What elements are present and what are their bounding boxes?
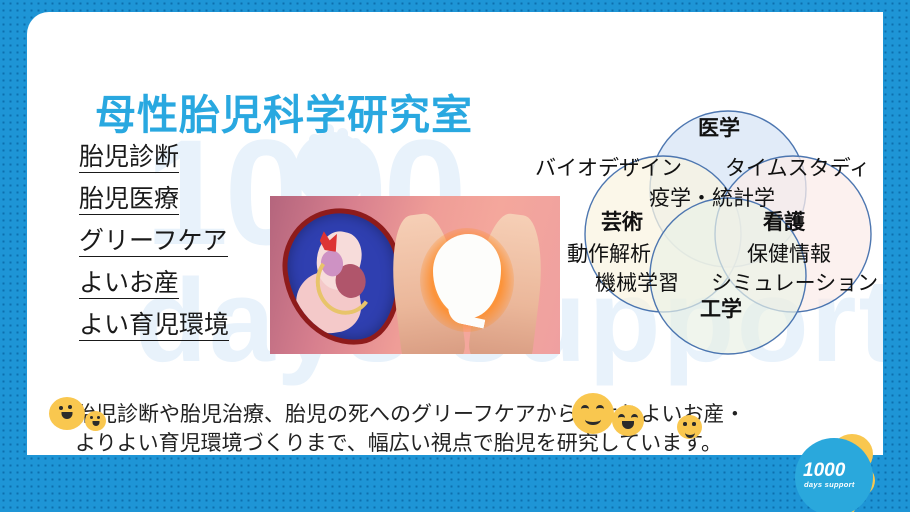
caption-text: 胎児診断や胎児治療、胎児の死へのグリーフケアから、よりよいお産・ よりよい育児環… <box>75 401 875 455</box>
smiley-face-icon <box>612 405 644 436</box>
smiley-face-icon <box>677 415 702 439</box>
venn-term-epidemiology-statistics: 疫学・統計学 <box>649 188 775 209</box>
venn-term-health-information: 保健情報 <box>747 244 831 265</box>
venn-term-motion-analysis: 動作解析 <box>567 244 651 265</box>
caption-line-1: 胎児診断や胎児治療、胎児の死へのグリーフケアから、よりよいお産・ <box>75 401 875 430</box>
venn-term-machine-learning: 機械学習 <box>595 273 679 294</box>
keyword-item-2: グリーフケア <box>79 229 228 257</box>
caption-line-2: よりよい育児環境づくりまで、幅広い視点で胎児を研究しています。 <box>75 430 875 455</box>
smiley-face-icon <box>49 397 85 430</box>
venn-diagram: 医学 芸術 看護 工学 バイオデザイン タイムスタディ 疫学・統計学 動作解析 … <box>545 94 883 356</box>
logo-tagline: days support <box>804 480 855 489</box>
venn-label-art: 芸術 <box>601 212 643 233</box>
keyword-item-0: 胎児診断 <box>79 145 179 173</box>
smiley-face-icon <box>572 393 614 434</box>
venn-label-medicine: 医学 <box>698 118 740 139</box>
venn-label-engineering: 工学 <box>700 299 742 320</box>
keyword-list: 胎児診断 胎児医療 グリーフケア よいお産 よい育児環境 <box>79 145 259 355</box>
hands-holding-fetus <box>392 196 542 354</box>
logo-number: 1000 <box>803 460 845 482</box>
watermark-face-icon <box>295 132 369 206</box>
smiley-face-icon <box>85 411 106 431</box>
keyword-item-3: よいお産 <box>79 271 179 299</box>
venn-term-biodesign: バイオデザイン <box>535 158 682 179</box>
keyword-item-4: よい育児環境 <box>79 313 229 341</box>
fetus-photo <box>270 196 560 354</box>
keyword-item-1: 胎児医療 <box>79 187 179 215</box>
venn-term-timestudy: タイムスタディ <box>725 158 870 179</box>
womb-illustration <box>275 200 411 353</box>
venn-term-simulation: シミュレーション <box>711 273 878 294</box>
white-content-panel: 1000 days support 母性胎児科学研究室 胎児診断 胎児医療 グリ… <box>27 12 883 455</box>
page-title: 母性胎児科学研究室 <box>95 81 473 141</box>
brand-logo: 1000 days support <box>795 438 881 512</box>
slide-root: 1000 days support 母性胎児科学研究室 胎児診断 胎児医療 グリ… <box>0 0 910 512</box>
venn-label-nursing: 看護 <box>763 212 805 233</box>
